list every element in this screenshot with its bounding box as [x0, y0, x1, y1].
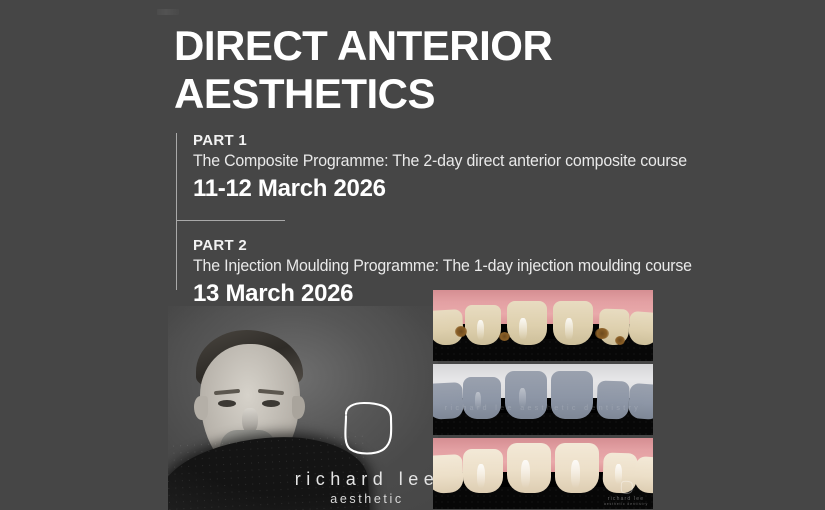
tooth-pre-4 [553, 301, 593, 345]
brand-tagline: aesthetic dentistry [292, 490, 442, 510]
tooth-mock-1 [433, 382, 464, 420]
tooth-post-3 [507, 443, 551, 493]
tooth-pre-3 [507, 301, 547, 345]
part-1-label: PART 1 [193, 131, 753, 150]
decay-lesion-pre-a [455, 326, 467, 337]
tooth-post-1 [433, 454, 464, 494]
clinical-photo-mock-up: richard lee aesthetic dentistry [433, 364, 653, 435]
photo-watermark-text: richard lee aesthetic dentistry [433, 405, 653, 412]
page-title: DIRECT ANTERIOR AESTHETICS [174, 22, 794, 118]
clinical-photo-strip: richard lee aesthetic dentistry [433, 290, 653, 510]
clinical-photo-pre-op [433, 290, 653, 361]
rounded-square-outline-icon [336, 398, 398, 460]
tooth-mock-2 [463, 377, 501, 419]
brand-name: richard lee [292, 468, 442, 490]
decay-lesion-pre-b [499, 332, 510, 341]
tooth-post-2 [463, 449, 503, 493]
top-edge-artifact [157, 9, 179, 15]
brand-logo: richard lee aesthetic dentistry [292, 398, 442, 510]
part-1-description: The Composite Programme: The 2-day direc… [193, 150, 733, 172]
watermark-rounded-square-icon [619, 480, 634, 495]
page-title-line-1: DIRECT ANTERIOR [174, 22, 794, 70]
tooth-pre-2 [465, 305, 501, 345]
poster-canvas: DIRECT ANTERIOR AESTHETICS PART 1 The Co… [0, 0, 825, 510]
clinical-photo-post-op: richard lee aesthetic dentistry [433, 438, 653, 509]
part-2-description: The Injection Moulding Programme: The 1-… [193, 255, 733, 277]
course-part-1: PART 1 The Composite Programme: The 2-da… [193, 131, 753, 204]
horizontal-divider-rule [176, 220, 285, 221]
decay-lesion-pre-c [595, 328, 609, 339]
tooth-mock-6 [628, 383, 653, 420]
tooth-mock-5 [596, 380, 629, 419]
decay-lesion-pre-d [615, 336, 625, 345]
tooth-post-4 [555, 443, 599, 493]
page-title-line-2: AESTHETICS [174, 70, 794, 118]
part-2-label: PART 2 [193, 236, 753, 255]
photo-corner-watermark: richard lee aesthetic dentistry [603, 480, 649, 507]
part-1-date: 11-12 March 2026 [193, 174, 753, 204]
vertical-divider-rule [176, 133, 177, 290]
watermark-brand-tagline: aesthetic dentistry [603, 502, 649, 507]
